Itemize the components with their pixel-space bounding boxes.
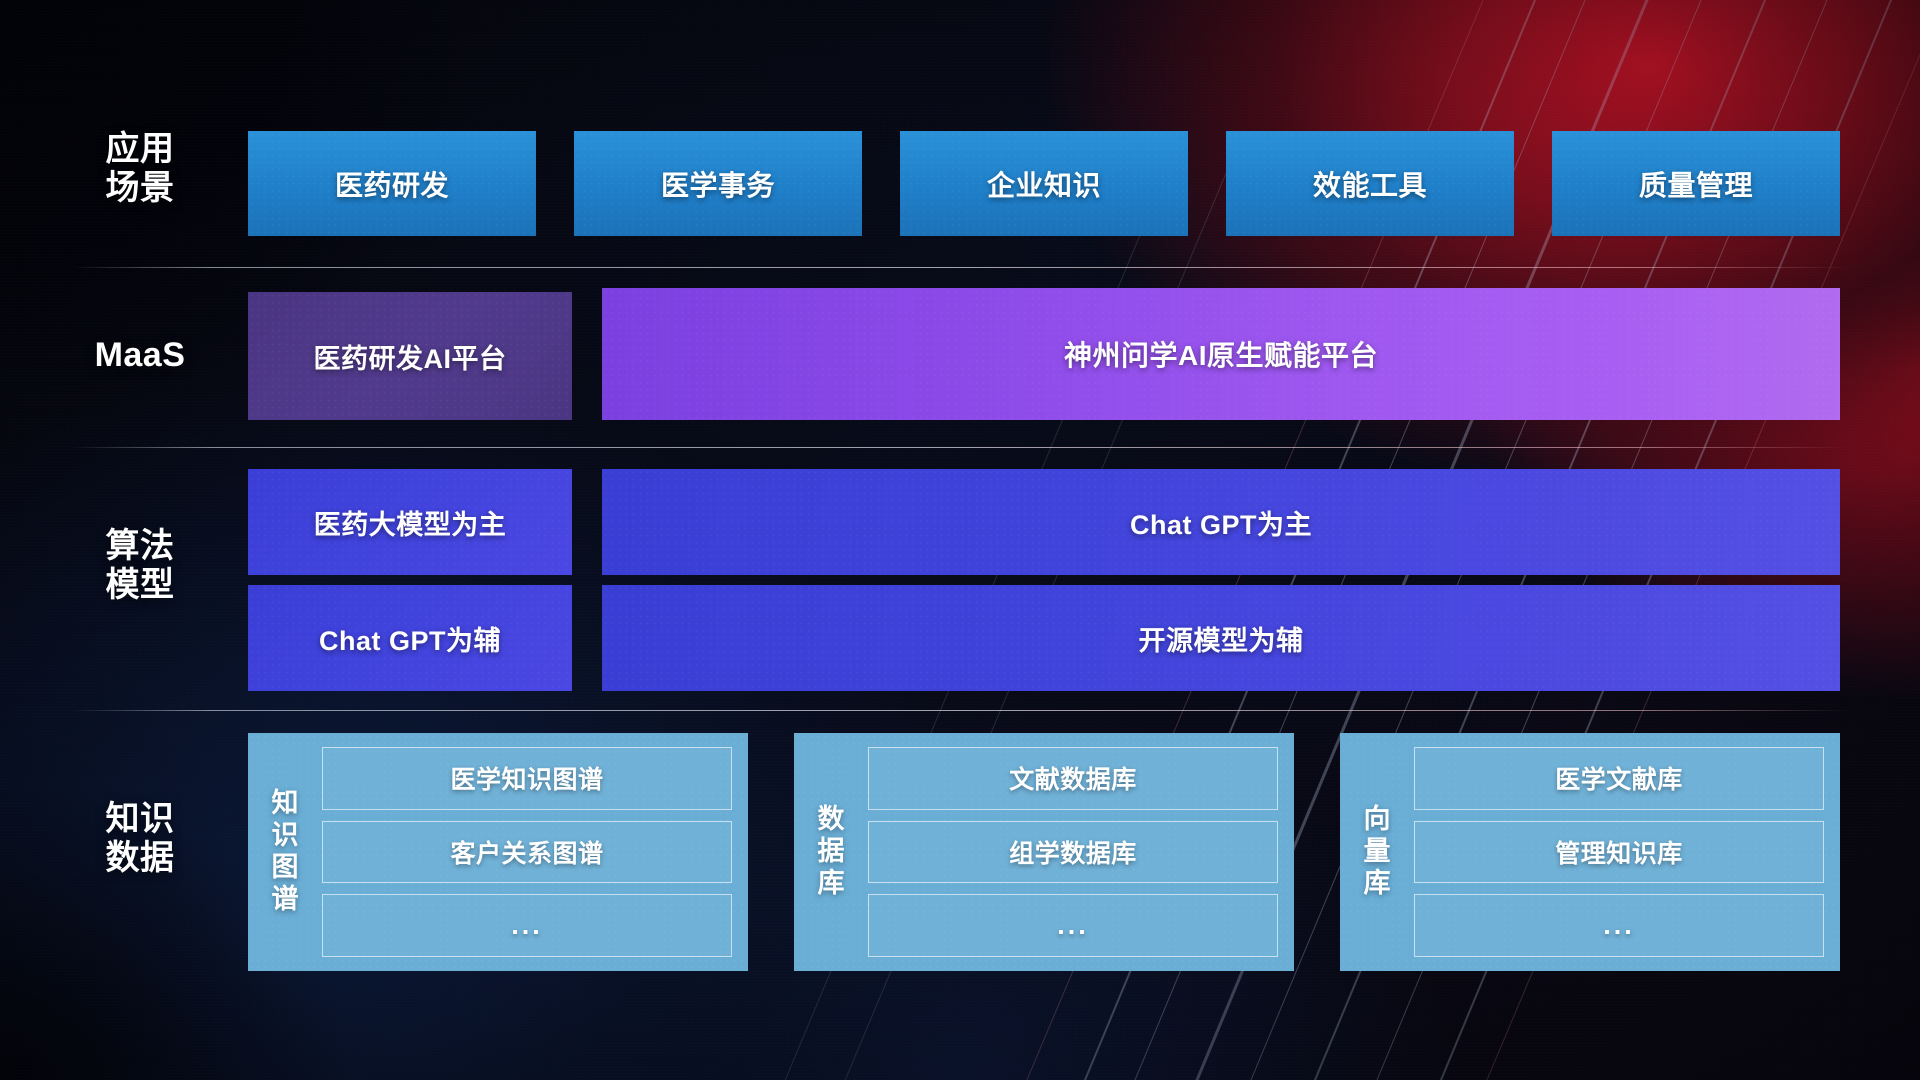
architecture-diagram: 应用场景 医药研发 医学事务 企业知识 效能工具 质量管理 MaaS 医药研发A… [0, 0, 1920, 1080]
knowledge-group-title-vector-store: 向量库 [1354, 747, 1400, 957]
maas-box-shenzhou-wenxue-platform[interactable]: 神州问学AI原生赋能平台 [602, 288, 1840, 420]
knowledge-item[interactable]: 管理知识库 [1414, 821, 1824, 884]
tier-divider-1 [72, 267, 1848, 268]
knowledge-item[interactable]: 组学数据库 [868, 821, 1278, 884]
app-scenario-box-1[interactable]: 医药研发 [248, 131, 536, 236]
tier-divider-2 [72, 447, 1848, 448]
algo-box-drug-large-model-primary[interactable]: 医药大模型为主 [248, 469, 572, 575]
knowledge-item-more[interactable]: ... [868, 894, 1278, 957]
algo-box-open-source-auxiliary[interactable]: 开源模型为辅 [602, 585, 1840, 691]
tier-label-maas: MaaS [80, 336, 200, 375]
knowledge-group-vector-store[interactable]: 向量库 医学文献库 管理知识库 ... [1340, 733, 1840, 971]
app-scenario-box-4[interactable]: 效能工具 [1226, 131, 1514, 236]
knowledge-group-items-knowledge-graph: 医学知识图谱 客户关系图谱 ... [322, 747, 732, 957]
app-scenario-box-5[interactable]: 质量管理 [1552, 131, 1840, 236]
knowledge-group-items-database: 文献数据库 组学数据库 ... [868, 747, 1278, 957]
tier-label-knowledge-data: 知识数据 [80, 800, 200, 878]
knowledge-group-database[interactable]: 数据库 文献数据库 组学数据库 ... [794, 733, 1294, 971]
knowledge-group-knowledge-graph[interactable]: 知识图谱 医学知识图谱 客户关系图谱 ... [248, 733, 748, 971]
tier-divider-3 [72, 710, 1848, 711]
knowledge-item-more[interactable]: ... [322, 894, 732, 957]
maas-box-drug-rd-platform[interactable]: 医药研发AI平台 [248, 292, 572, 420]
knowledge-group-title-knowledge-graph: 知识图谱 [262, 747, 308, 957]
algo-box-chatgpt-auxiliary[interactable]: Chat GPT为辅 [248, 585, 572, 691]
knowledge-item-more[interactable]: ... [1414, 894, 1824, 957]
knowledge-item[interactable]: 客户关系图谱 [322, 821, 732, 884]
knowledge-item[interactable]: 医学知识图谱 [322, 747, 732, 810]
knowledge-group-items-vector-store: 医学文献库 管理知识库 ... [1414, 747, 1824, 957]
tier-label-algorithm-models: 算法模型 [80, 527, 200, 605]
knowledge-group-title-database: 数据库 [808, 747, 854, 957]
app-scenario-box-2[interactable]: 医学事务 [574, 131, 862, 236]
tier-label-application-scenarios: 应用场景 [80, 130, 200, 208]
knowledge-item[interactable]: 医学文献库 [1414, 747, 1824, 810]
algo-box-chatgpt-primary[interactable]: Chat GPT为主 [602, 469, 1840, 575]
knowledge-item[interactable]: 文献数据库 [868, 747, 1278, 810]
app-scenario-box-3[interactable]: 企业知识 [900, 131, 1188, 236]
